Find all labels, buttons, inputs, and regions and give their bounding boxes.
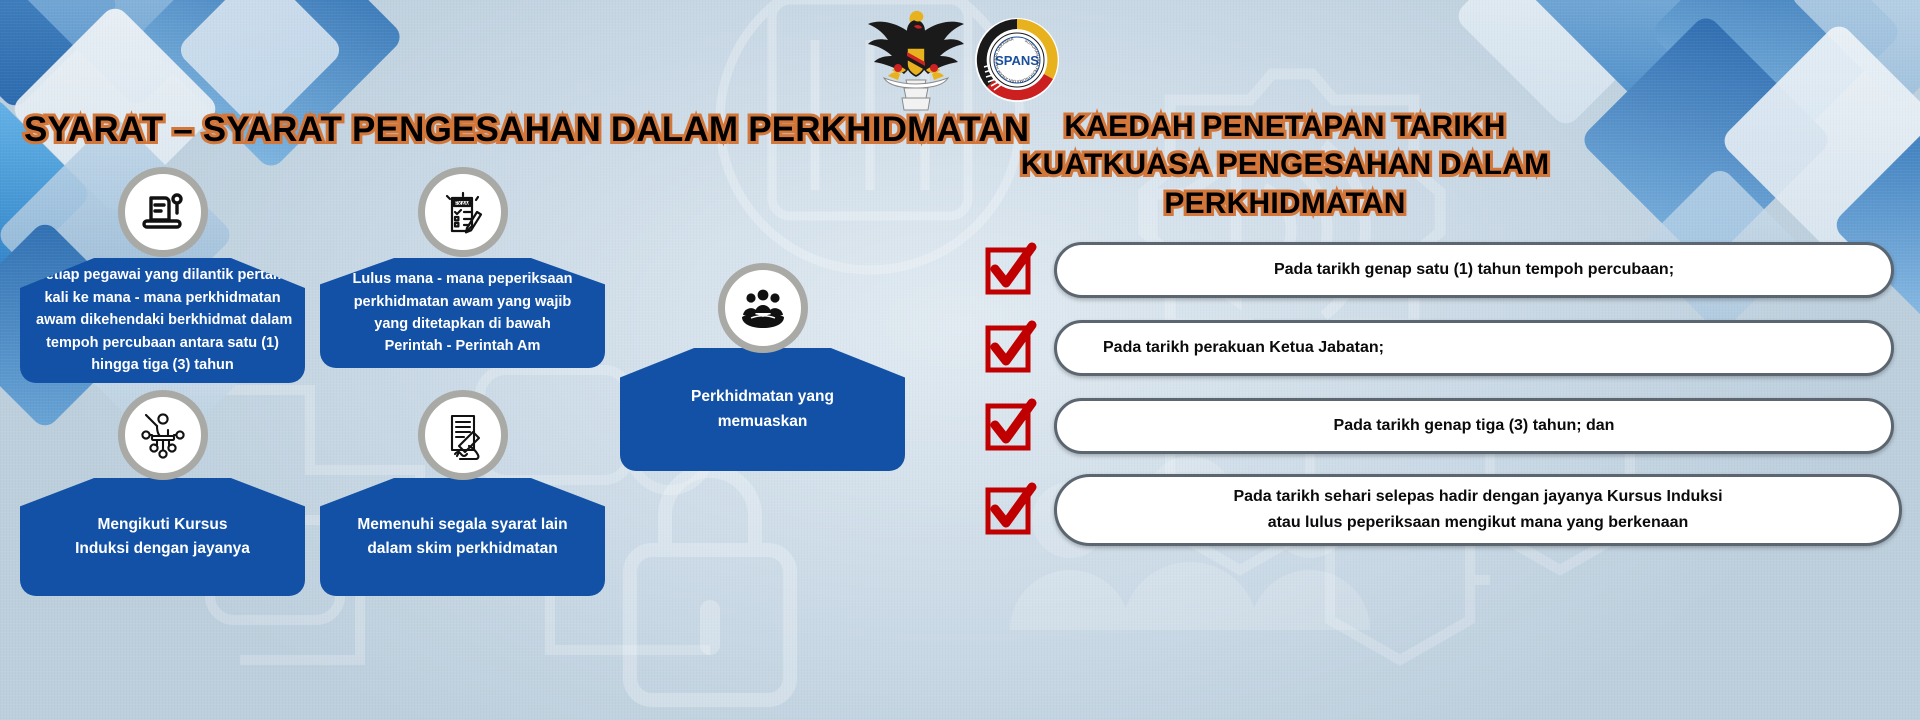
card-line: tempoh percubaan antara satu (1) [36, 332, 289, 354]
card-line: Lulus mana - mana peperiksaan [336, 268, 589, 290]
certificate-document-icon [118, 167, 208, 257]
card-line: perkhidmatan awam yang wajib [336, 291, 589, 313]
checkbox-checked-icon[interactable] [982, 482, 1038, 538]
exam-checklist-icon: EXAM [418, 167, 508, 257]
item-kursus-induksi-peperiksaan[interactable]: Pada tarikh sehari selepas hadir dengan … [982, 474, 1902, 546]
logo-group: SPANS SURUHANJAYA PERKHIDMATAN AWAM NEGE… [846, 8, 1076, 116]
card-line: dalam skim perkhidmatan [336, 537, 589, 561]
checklist-line: Pada tarikh perakuan Ketua Jabatan; [1103, 339, 1863, 357]
card-line: yang ditetapkan di bawah [336, 313, 589, 335]
card-line: awam dikehendaki berkhidmat dalam [36, 309, 289, 331]
right-section-title: KAEDAH PENETAPAN TARIKH KUATKUASA PENGES… [995, 108, 1575, 223]
item-genap-tiga-tahun[interactable]: Pada tarikh genap tiga (3) tahun; dan [982, 396, 1902, 456]
spans-logo-icon: SPANS SURUHANJAYA PERKHIDMATAN AWAM NEGE… [974, 17, 1060, 108]
item-genap-satu-tahun[interactable]: Pada tarikh genap satu (1) tahun tempoh … [982, 240, 1902, 300]
checklist-pill[interactable]: Pada tarikh perakuan Ketua Jabatan; [1054, 320, 1894, 376]
checkbox-checked-icon[interactable] [982, 320, 1038, 376]
card-line: kali ke mana - mana perkhidmatan [36, 287, 289, 309]
card-tempoh-percubaan[interactable]: Setiap pegawai yang dilantik pertama kal… [20, 258, 305, 383]
card-peperiksaan[interactable]: Lulus mana - mana peperiksaan perkhidmat… [320, 258, 605, 368]
card-line: Induksi dengan jayanya [36, 537, 289, 561]
hand-signing-document-icon [418, 390, 508, 480]
card-line: Perkhidmatan yang [636, 385, 889, 409]
right-title-line-3: PERKHIDMATAN [995, 185, 1575, 223]
card-line: memuaskan [636, 410, 889, 434]
checklist-line: Pada tarikh sehari selepas hadir dengan … [1079, 484, 1877, 510]
right-title-line-2: KUATKUASA PENGESAHAN DALAM [995, 146, 1575, 184]
hands-holding-people-icon [718, 263, 808, 353]
card-line: Memenuhi segala syarat lain [336, 513, 589, 537]
checklist-line: Pada tarikh genap satu (1) tahun tempoh … [1085, 261, 1863, 279]
checkbox-checked-icon[interactable] [982, 398, 1038, 454]
checklist-pill[interactable]: Pada tarikh sehari selepas hadir dengan … [1054, 474, 1902, 546]
spans-wordmark: SPANS [995, 53, 1039, 68]
checklist-line: atau lulus peperiksaan mengikut mana yan… [1079, 510, 1877, 536]
checklist-pill[interactable]: Pada tarikh genap satu (1) tahun tempoh … [1054, 242, 1894, 298]
card-line: Perintah - Perintah Am [336, 335, 589, 357]
card-kursus-induksi[interactable]: Mengikuti Kursus Induksi dengan jayanya [20, 478, 305, 596]
svg-text:EXAM: EXAM [454, 201, 470, 207]
card-perkhidmatan-memuaskan[interactable]: Perkhidmatan yang memuaskan [620, 348, 905, 471]
right-title-line-1: KAEDAH PENETAPAN TARIKH [995, 108, 1575, 146]
card-line: Setiap pegawai yang dilantik pertama [36, 264, 289, 286]
checklist-pill[interactable]: Pada tarikh genap tiga (3) tahun; dan [1054, 398, 1894, 454]
checkbox-checked-icon[interactable] [982, 242, 1038, 298]
sarawak-coat-of-arms-icon [862, 8, 970, 117]
training-presenter-icon [118, 390, 208, 480]
card-syarat-skim[interactable]: Memenuhi segala syarat lain dalam skim p… [320, 478, 605, 596]
left-section-title: SYARAT – SYARAT PENGESAHAN DALAM PERKHID… [24, 112, 864, 149]
checklist-line: Pada tarikh genap tiga (3) tahun; dan [1085, 417, 1863, 435]
item-perakuan-ketua-jabatan[interactable]: Pada tarikh perakuan Ketua Jabatan; [982, 318, 1902, 378]
card-line: hingga tiga (3) tahun [36, 354, 289, 376]
card-line: Mengikuti Kursus [36, 513, 289, 537]
